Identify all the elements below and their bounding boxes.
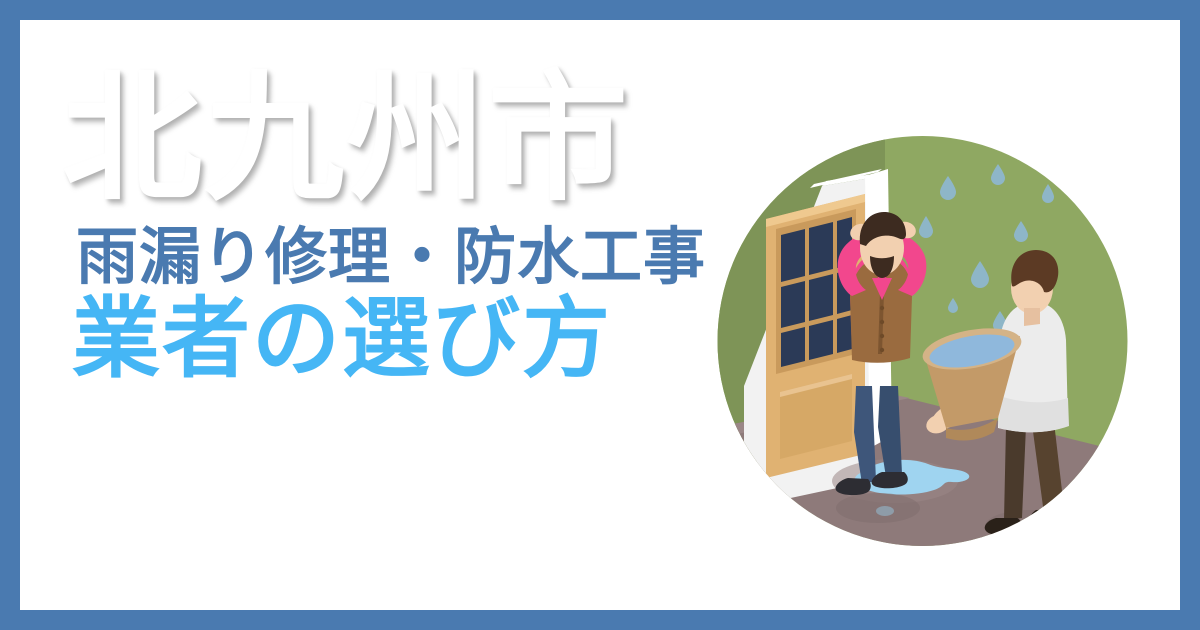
drop-6 — [1093, 191, 1105, 210]
door-glass-panes — [781, 217, 852, 367]
helper-shoe-front — [1029, 509, 1066, 528]
illustration-roof-leak — [710, 136, 1135, 546]
page-subtitle-service: 雨漏り修理・防水工事 — [76, 224, 762, 289]
helper-neck — [1024, 308, 1040, 326]
page-title-city: 北九州市 — [62, 70, 762, 210]
headline-block: 北九州市 雨漏り修理・防水工事 業者の選び方 — [62, 70, 762, 385]
page-subtitle-topic: 業者の選び方 — [72, 293, 762, 385]
puddle-splash-1 — [936, 474, 948, 482]
poster-inner-card: 北九州市 雨漏り修理・防水工事 業者の選び方 — [20, 20, 1180, 610]
helper-shoe-back — [985, 518, 1022, 535]
homeowner-floor-shadow — [836, 493, 920, 523]
poster-frame: 北九州市 雨漏り修理・防水工事 業者の選び方 — [0, 0, 1200, 630]
scene-contents — [710, 136, 1135, 546]
roof-leak-illustration-svg — [710, 136, 1135, 546]
